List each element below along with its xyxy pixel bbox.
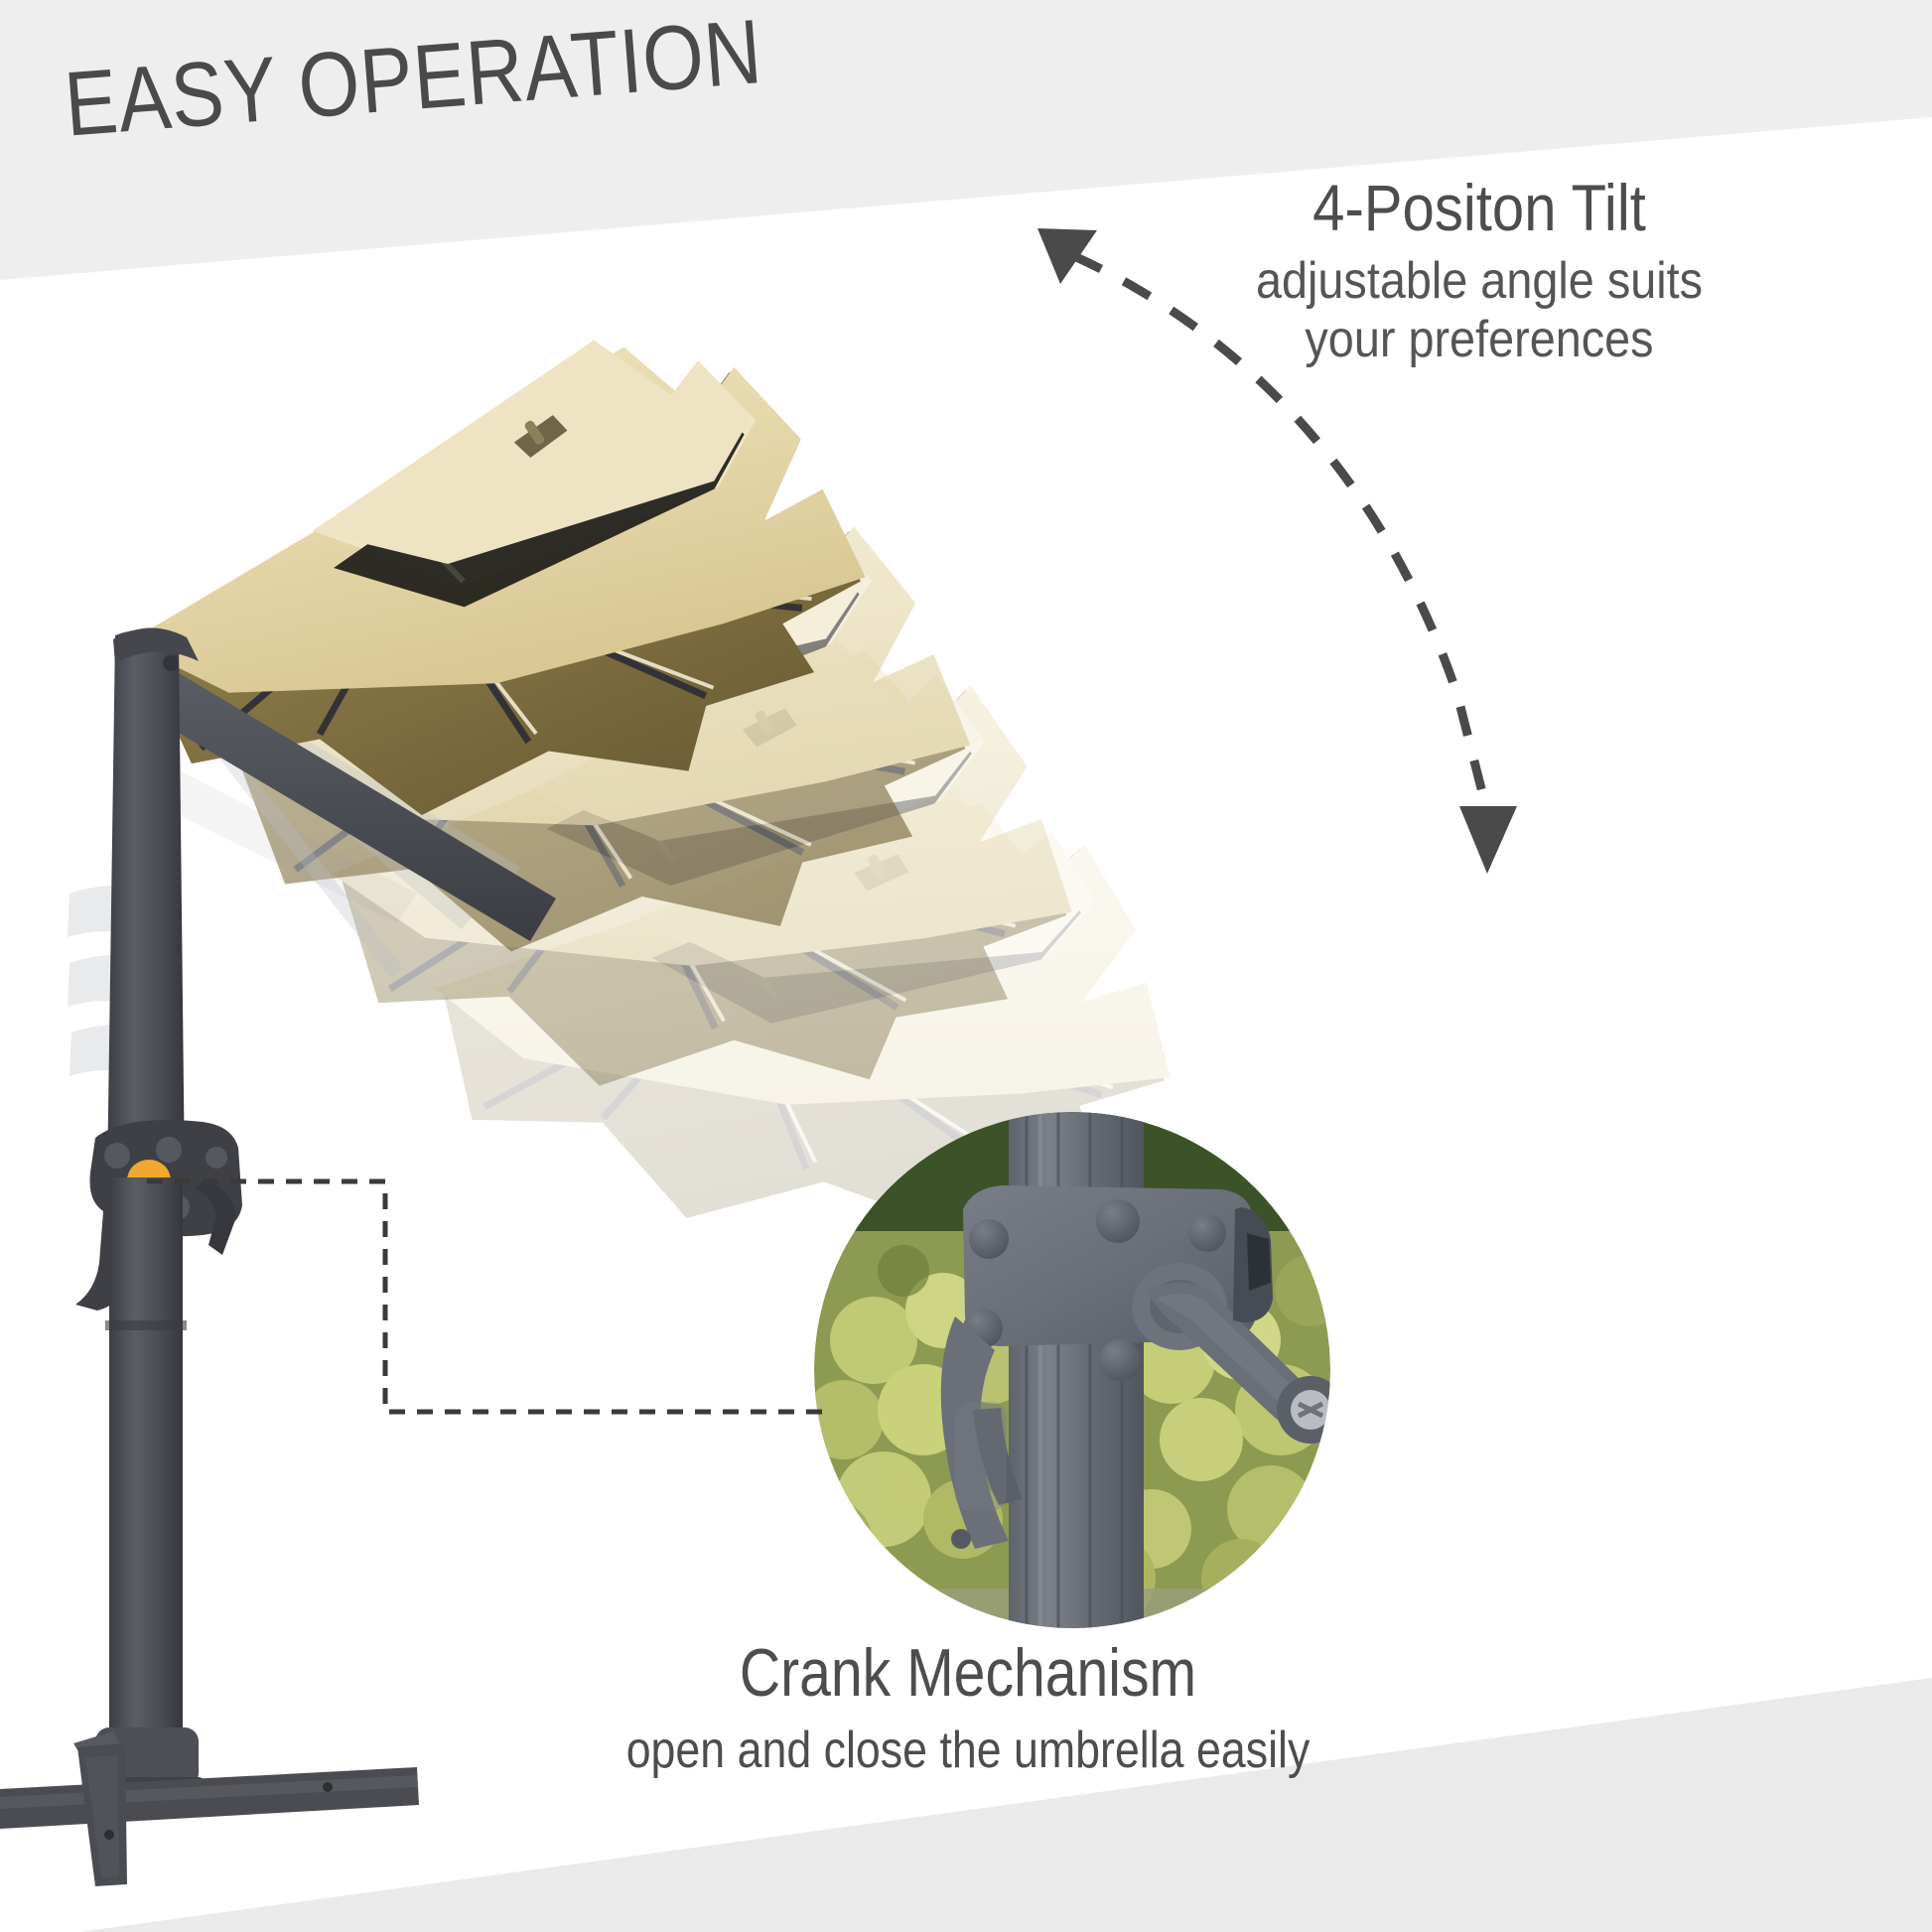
tilt-subtitle-line-2: your preferences	[1086, 311, 1872, 368]
tilt-callout: 4-Positon Tilt adjustable angle suits yo…	[1042, 174, 1916, 368]
crank-callout-title: Crank Mechanism	[447, 1638, 1489, 1709]
tilt-subtitle-line-1: adjustable angle suits	[1086, 252, 1872, 310]
infographic-canvas: EASY OPERATION	[0, 0, 1932, 1932]
crank-leader-dashed	[147, 1181, 832, 1412]
crank-callout-subtitle: open and close the umbrella easily	[435, 1723, 1502, 1779]
tilt-callout-title: 4-Positon Tilt	[1095, 174, 1863, 242]
tilt-callout-subtitle: adjustable angle suits your preferences	[1086, 252, 1872, 367]
crank-callout: Crank Mechanism open and close the umbre…	[347, 1638, 1588, 1780]
arc-arrow-bottom-icon	[1459, 806, 1517, 874]
